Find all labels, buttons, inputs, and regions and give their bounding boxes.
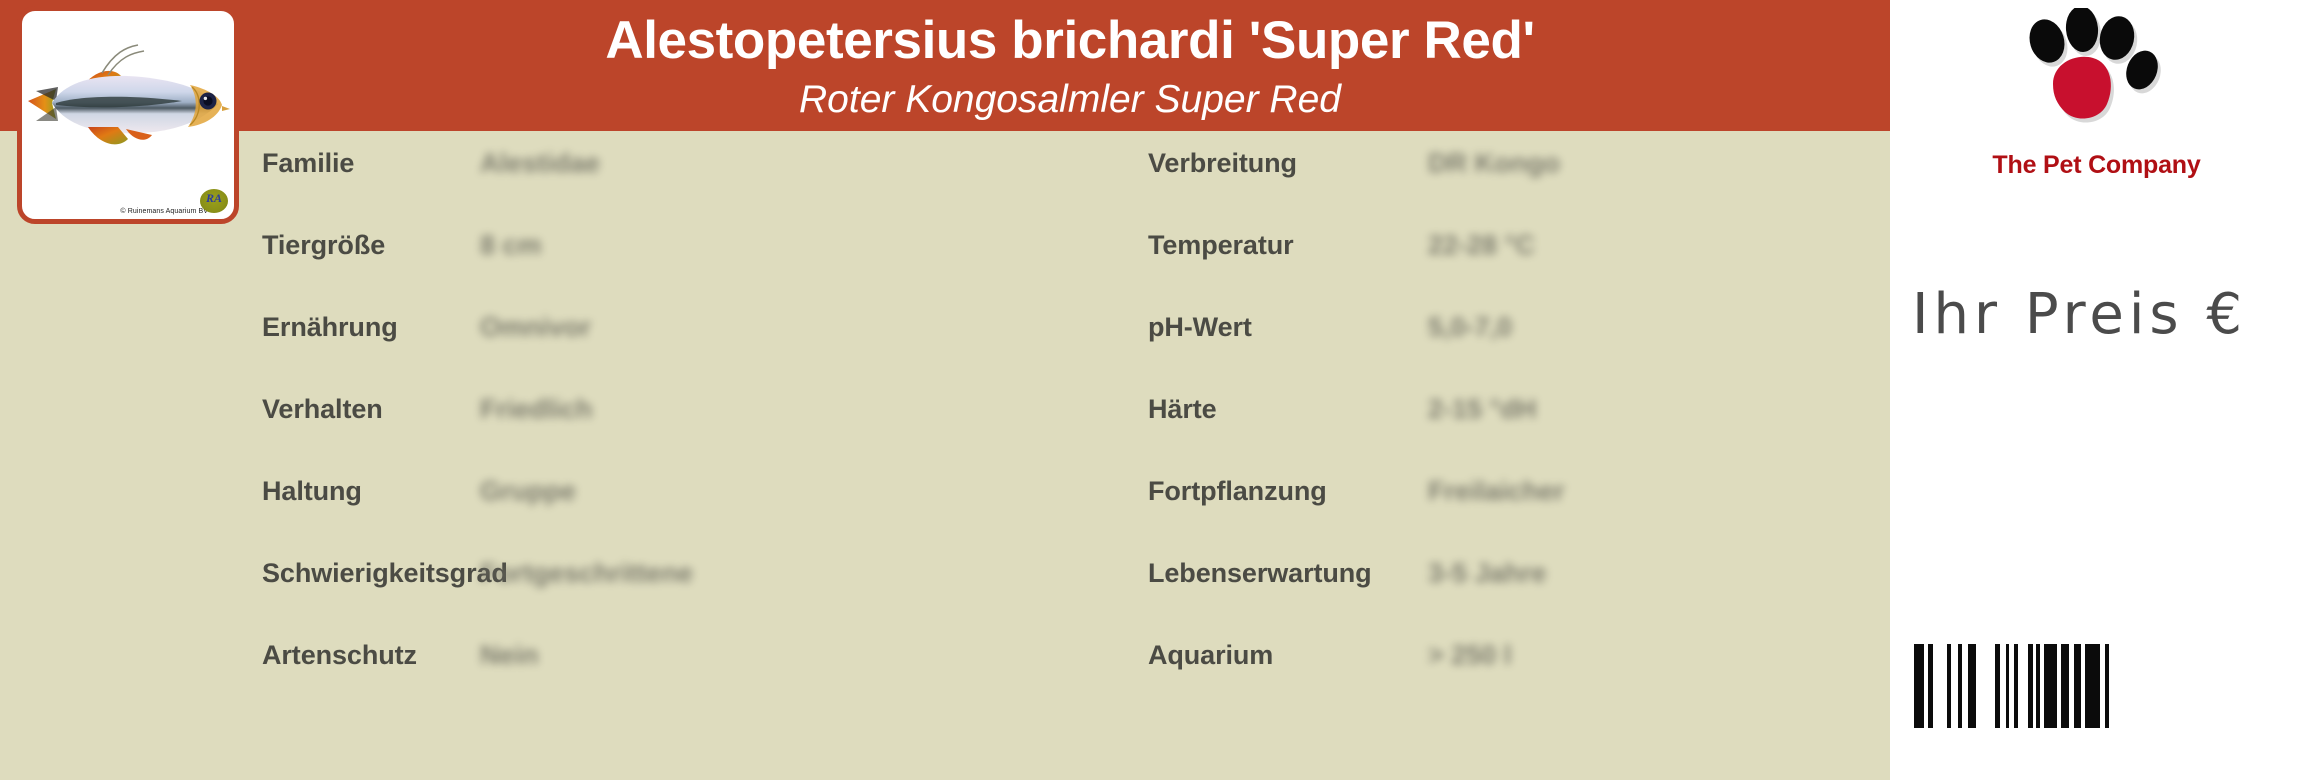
spec-row: Härte 2-15 °dH (1148, 394, 1848, 476)
spec-label: Verhalten (262, 394, 383, 425)
spec-label: pH-Wert (1148, 312, 1252, 343)
spec-label: Temperatur (1148, 230, 1294, 261)
spec-value: 2-15 °dH (1428, 394, 1536, 425)
spec-value: > 250 l (1428, 640, 1511, 671)
spec-label: Tiergröße (262, 230, 385, 261)
common-name: Roter Kongosalmler Super Red (799, 80, 1341, 119)
spec-value: DR Kongo (1428, 148, 1560, 179)
scientific-name: Alestopetersius brichardi 'Super Red' (605, 14, 1534, 67)
spec-value: 22-28 °C (1428, 230, 1535, 261)
spec-label: Aquarium (1148, 640, 1273, 671)
spec-label: Härte (1148, 394, 1217, 425)
title-block: Alestopetersius brichardi 'Super Red' Ro… (250, 0, 1890, 131)
spec-row: Haltung Gruppe (262, 476, 962, 558)
spec-row: Artenschutz Nein (262, 640, 962, 722)
spec-row: Aquarium > 250 l (1148, 640, 1848, 722)
spec-row: Familie Alestidae (262, 148, 962, 230)
barcode (1914, 644, 2254, 728)
barcode-bar (2085, 644, 2100, 728)
spec-value: Omnivor (480, 312, 591, 343)
spec-label: Haltung (262, 476, 362, 507)
price-panel: The Pet Company Ihr Preis € (1890, 0, 2303, 780)
spec-row: Fortpflanzung Freilaicher (1148, 476, 1848, 558)
spec-row: Schwierigkeitsgrad Fortgeschrittene (262, 558, 962, 640)
spec-label: Lebenserwartung (1148, 558, 1372, 589)
price-label: Ihr Preis € (1890, 282, 2303, 347)
barcode-bar (1914, 644, 1924, 728)
spec-value: Freilaicher (1428, 476, 1565, 507)
spec-value: Nein (480, 640, 539, 671)
spec-row: Ernährung Omnivor (262, 312, 962, 394)
spec-value: 5,0-7,0 (1428, 312, 1512, 343)
brand-logo-block: The Pet Company (1890, 8, 2303, 198)
title-banner: Alestopetersius brichardi 'Super Red' Ro… (0, 0, 1890, 131)
spec-row: Verbreitung DR Kongo (1148, 148, 1848, 230)
spec-column-left: Familie Alestidae Tiergröße 8 cm Ernähru… (262, 131, 962, 722)
spec-value: 8 cm (480, 230, 542, 261)
spec-label: Fortpflanzung (1148, 476, 1327, 507)
spec-row: Temperatur 22-28 °C (1148, 230, 1848, 312)
barcode-space (2109, 644, 2115, 728)
barcode-space (1976, 644, 1995, 728)
spec-row: Lebenserwartung 3-5 Jahre (1148, 558, 1848, 640)
spec-label: Familie (262, 148, 354, 179)
barcode-space (1933, 644, 1947, 728)
spec-label: Schwierigkeitsgrad (262, 558, 508, 589)
spec-value: Friedlich (480, 394, 593, 425)
spec-label: Verbreitung (1148, 148, 1297, 179)
brand-name: The Pet Company (1890, 151, 2303, 180)
barcode-bar (2044, 644, 2057, 728)
spec-column-right: Verbreitung DR Kongo Temperatur 22-28 °C… (1148, 131, 1848, 722)
spec-value: Fortgeschrittene (480, 558, 693, 589)
species-card: Alestopetersius brichardi 'Super Red' Ro… (0, 0, 1890, 780)
spec-label: Artenschutz (262, 640, 417, 671)
barcode-bar (2074, 644, 2081, 728)
spec-value: Gruppe (480, 476, 576, 507)
spec-label: Ernährung (262, 312, 398, 343)
barcode-space (2018, 644, 2028, 728)
spec-row: pH-Wert 5,0-7,0 (1148, 312, 1848, 394)
spec-table: Familie Alestidae Tiergröße 8 cm Ernähru… (0, 131, 1890, 780)
species-info-sheet: Alestopetersius brichardi 'Super Red' Ro… (0, 0, 2303, 780)
paw-print-icon (2017, 8, 2177, 138)
barcode-bar (2061, 644, 2069, 728)
spec-value: Alestidae (480, 148, 600, 179)
spec-value: 3-5 Jahre (1428, 558, 1547, 589)
spec-row: Verhalten Friedlich (262, 394, 962, 476)
barcode-space (1951, 644, 1958, 728)
barcode-bar (1968, 644, 1976, 728)
spec-row: Tiergröße 8 cm (262, 230, 962, 312)
